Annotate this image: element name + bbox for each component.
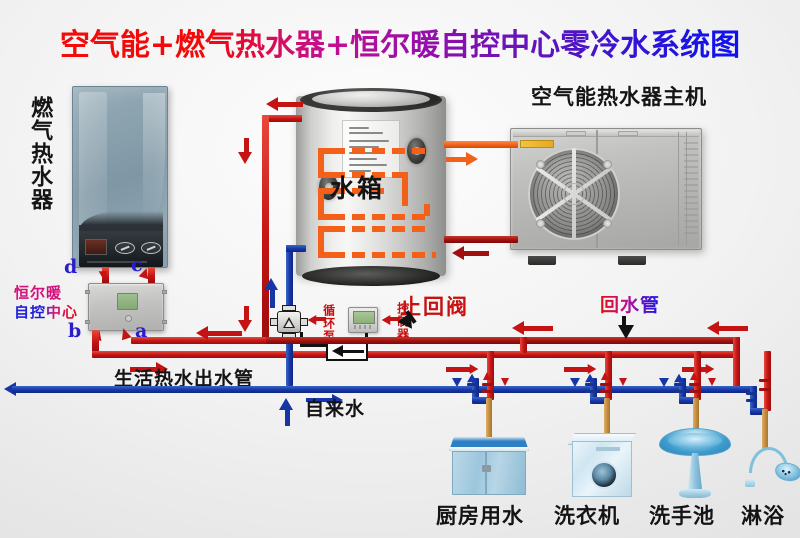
fixture-label-sink: 洗手池 — [649, 505, 715, 527]
arrow-shaft — [523, 326, 553, 331]
union-fitting — [746, 399, 757, 402]
fixture-wash-basin — [659, 428, 731, 498]
tank-coil-segment — [402, 172, 408, 206]
arrow-shaft — [244, 306, 249, 322]
control-center-label-line1: 恒尔暖 — [14, 286, 62, 302]
control-center-label-line2: 自控中心 — [14, 305, 78, 321]
fan-bolt — [536, 219, 545, 228]
controller-unit — [348, 307, 378, 333]
union-fitting — [759, 379, 770, 382]
heat-pump-label: 空气能热水器主机 — [531, 86, 707, 108]
tank-cap — [312, 91, 430, 107]
fixture-shower — [745, 443, 799, 489]
port-label-c: c — [131, 256, 143, 276]
arrow-up-hot-washer — [601, 372, 609, 380]
gwh-knob-icon — [115, 242, 135, 254]
tank-coil-segment — [424, 204, 430, 216]
control-center-lug — [162, 320, 167, 324]
arrow-down-washer-left — [570, 378, 580, 387]
arrow-shaft — [277, 102, 303, 107]
union-fitting — [467, 390, 478, 393]
fixture-label-washer: 洗衣机 — [554, 505, 620, 527]
union-fitting — [674, 383, 685, 386]
union-fitting — [482, 390, 493, 393]
pump-body — [277, 311, 301, 333]
arrow-shaft — [446, 157, 470, 162]
arrow-down-sink-right — [708, 378, 716, 386]
union-fitting — [689, 390, 700, 393]
controller-screen — [353, 311, 375, 324]
port-label-d: d — [64, 258, 77, 278]
control-center-unit — [88, 283, 164, 331]
arrow-shaft — [622, 316, 626, 328]
pipe-heatpump-to-tank — [444, 236, 518, 243]
arrow-up-hot-kitchen — [483, 372, 491, 380]
union-fitting — [467, 383, 478, 386]
washer-door-icon — [590, 461, 618, 489]
arrow-shaft — [718, 326, 748, 331]
return-pipe-label: 回水管 — [600, 296, 660, 316]
heat-pump-foot — [528, 256, 556, 265]
arrow-up-cold-kitchen — [467, 374, 477, 382]
tap-water-label: 自来水 — [305, 400, 365, 420]
union-fitting — [759, 388, 770, 391]
tank-coil-segment — [332, 252, 436, 258]
union-fitting — [482, 383, 493, 386]
fan-hub — [563, 183, 585, 205]
check-valve-arrow-icon — [332, 345, 343, 357]
pipe-hot-riser-down — [262, 115, 269, 344]
pipe-cold-distribution-main — [286, 386, 740, 393]
control-center-screen — [117, 293, 138, 310]
arrow-shaft — [463, 251, 489, 256]
union-fitting — [689, 383, 700, 386]
water-tank-label: 水箱 — [330, 176, 384, 202]
pipe-tee-return-supply — [520, 337, 527, 353]
fan-bolt — [603, 160, 612, 169]
basin-knob-icon — [482, 465, 491, 472]
gwh-display — [85, 239, 107, 255]
union-fitting — [674, 390, 685, 393]
basin-body — [452, 451, 526, 495]
shower-holder — [745, 479, 755, 487]
washer-detergent-slot — [596, 447, 620, 451]
gwh-curve — [143, 93, 165, 223]
arrow-right-supply-mid — [588, 364, 597, 374]
sink-base — [679, 489, 711, 498]
check-valve-shaft — [342, 350, 364, 353]
arrow-down-kitchen-left — [452, 378, 462, 387]
control-center-button-icon — [125, 315, 132, 322]
pipe-tank-to-heatpump — [444, 141, 518, 148]
sink-bowl-inner — [668, 433, 722, 448]
tank-coil-segment — [332, 148, 430, 154]
pipe-cold-main-left — [12, 386, 288, 393]
arrow-shaft — [244, 138, 249, 154]
heat-pump-fan-icon — [528, 148, 620, 240]
heat-pump-top-rail — [513, 130, 699, 137]
port-label-b: b — [68, 322, 81, 342]
system-diagram-canvas: 空气能+燃气热水器+恒尔暖自控中心零冷水系统图 燃气热水器 d c 恒尔暖 自控… — [0, 0, 800, 538]
heat-pump-unit — [510, 128, 702, 258]
union-fitting — [746, 392, 757, 395]
control-center-lug — [162, 290, 167, 294]
arrow-shaft — [446, 367, 470, 372]
pump-impeller-inner — [285, 320, 293, 327]
basin-divider — [485, 451, 487, 495]
arrow-up-tapwater — [279, 398, 293, 410]
fixture-kitchen-basin — [449, 437, 529, 497]
gas-water-heater-label: 燃气热水器 — [28, 96, 51, 211]
union-fitting — [585, 383, 596, 386]
gwh-control-panel — [79, 225, 163, 267]
control-center-lug — [85, 290, 90, 294]
heat-pump-tab — [618, 131, 638, 136]
arrow-pointer-return-pipe — [618, 325, 634, 339]
gwh-knob-icon — [141, 242, 161, 254]
pipe-right-riser — [733, 337, 740, 389]
fixture-washing-machine — [568, 433, 636, 497]
tank-coil-segment — [332, 226, 430, 232]
arrow-up-cold — [264, 278, 278, 290]
arrow-up-hot-sink — [690, 372, 698, 380]
fan-bolt — [536, 160, 545, 169]
pipe-return-main — [266, 337, 740, 344]
arrow-shaft — [285, 410, 290, 426]
pipe-cold-to-tank — [286, 245, 293, 309]
sink-pedestal — [688, 453, 702, 489]
arrow-shaft — [564, 367, 588, 372]
tank-base-ring — [302, 266, 440, 286]
heat-pump-panel-seam — [678, 132, 679, 246]
union-fitting — [600, 390, 611, 393]
tank-coil-segment — [332, 214, 430, 220]
faucet-pipe-kitchen — [486, 398, 492, 440]
arrow-down-port-d — [99, 271, 108, 278]
faucet-pipe-washer — [604, 398, 610, 436]
arrow-right-supply-far — [706, 364, 715, 374]
arrow-up-cold-sink — [674, 374, 684, 382]
union-fitting — [600, 383, 611, 386]
arrow-right-supply-left — [470, 364, 479, 374]
arrow-down-kitchen-right — [501, 378, 509, 386]
heat-pump-tab — [566, 131, 586, 136]
arrow-shaft — [207, 331, 242, 336]
arrow-down-sink-left — [659, 378, 669, 387]
pipe-cold-tank-inlet — [286, 245, 306, 252]
arrow-down-washer-right — [619, 378, 627, 386]
heat-pump-side-grille — [684, 142, 698, 238]
gas-water-heater-unit — [72, 86, 168, 268]
fan-bolt — [603, 219, 612, 228]
heat-pump-foot — [618, 256, 646, 265]
heat-pump-warning-sticker — [520, 140, 554, 148]
control-center-lug — [85, 320, 90, 324]
arrow-up-cold-washer — [585, 374, 595, 382]
union-fitting — [585, 390, 596, 393]
fixture-label-kitchen: 厨房用水 — [436, 505, 524, 527]
pipe-hot-water-supply-main — [92, 351, 740, 358]
pipe-controlcenter-port-b-down — [92, 330, 99, 352]
controller-buttons — [354, 325, 374, 329]
faucet-pipe-sink — [693, 398, 699, 432]
page-title: 空气能+燃气热水器+恒尔暖自控中心零冷水系统图 — [0, 20, 800, 64]
fixture-label-shower: 淋浴 — [741, 505, 785, 527]
